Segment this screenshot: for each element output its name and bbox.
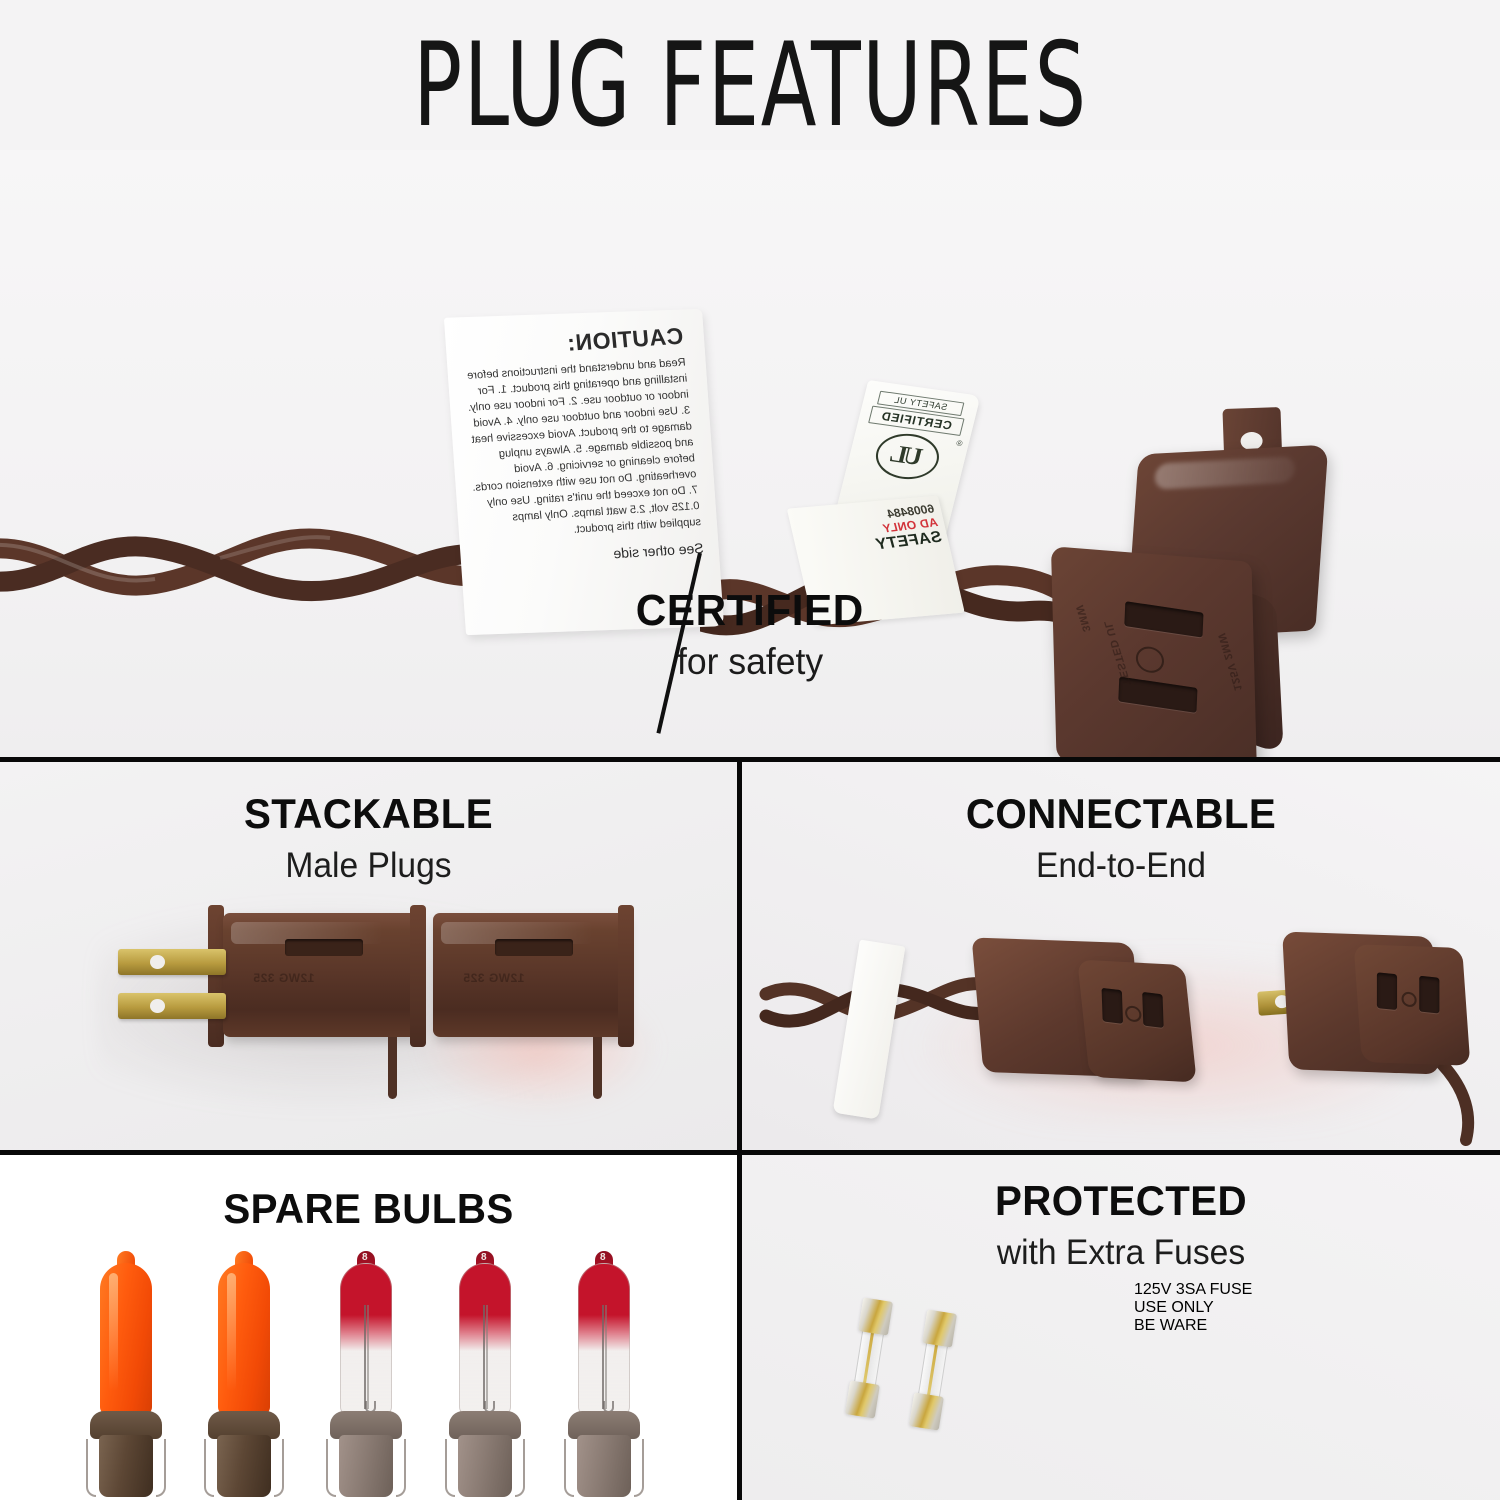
bulb-lead-left [564, 1439, 574, 1497]
bulb-base-body [217, 1435, 271, 1497]
bulb-red-3 [556, 1263, 652, 1498]
plug-prongs [118, 949, 228, 1033]
socket-slot-left [1102, 988, 1123, 1024]
socket-slot-right [1142, 992, 1163, 1028]
connectable-plugs-photo: CAUTION: Read and understand the instruc… [766, 912, 1486, 1142]
bulb-lead-right [396, 1439, 406, 1497]
caution-body-text: Read and understand the instructions bef… [459, 356, 701, 545]
page-title: PLUG FEATURES [413, 28, 1088, 144]
panel-protected-title: PROTECTED [757, 1177, 1485, 1225]
socket-center-boss [1125, 1005, 1142, 1023]
plug-center-boss [1401, 991, 1416, 1008]
ul-tag-strip: 6008484 AD ONLY SAFETY [787, 496, 965, 626]
bulb-red-2 [437, 1263, 533, 1498]
caution-label-tag: CAUTION: Read and understand the instruc… [444, 309, 724, 635]
plug-emboss-1: 12WG 325 [253, 971, 314, 985]
socket-emboss-left: 3MW [1073, 604, 1093, 633]
prong-bottom [118, 993, 226, 1019]
ul-certification-tag: SAFETY UL CERTIFIED UL ® 6008484 AD ONLY… [795, 368, 985, 625]
bulb-red-1 [318, 1263, 414, 1498]
fuse-holder-plug: 125V 3SA FUSE USE ONLY BE WARE [1134, 1281, 1434, 1496]
panel-stackable-title: STACKABLE [15, 790, 723, 838]
holder-body-shell [1190, 1309, 1380, 1459]
bulb-filament [364, 1305, 369, 1409]
socket-front-face: 3MW TESTED UL 125V 2MW [1051, 546, 1257, 758]
panel-spare-bulbs-title: SPARE BULBS [15, 1185, 723, 1233]
stackable-plugs-photo: 12WG 325 12WG 325 [88, 887, 648, 1137]
plug-slot-2 [495, 939, 573, 956]
panel-stackable: STACKABLE Male Plugs 12WG 325 12WG 325 [0, 762, 737, 1150]
fuse-cap-top [858, 1297, 893, 1335]
protected-fuses-photo: 125V 3SA FUSE USE ONLY BE WARE [742, 1275, 1500, 1500]
bulb-base-body [577, 1435, 631, 1497]
bulb-lead-right [515, 1439, 525, 1497]
socket-emboss-mid: TESTED UL [1101, 620, 1132, 687]
spare-fuse-2 [909, 1309, 957, 1430]
bulb-filament [483, 1305, 488, 1409]
bulb-base-body [458, 1435, 512, 1497]
hero-panel: CAUTION: Read and understand the instruc… [0, 150, 1500, 758]
spare-fuse-1 [845, 1297, 893, 1418]
panel-spare-bulbs: SPARE BULBS [0, 1155, 737, 1500]
bulb-base-body [99, 1435, 153, 1497]
bulb-lead-left [445, 1439, 455, 1497]
female-socket-face [1077, 960, 1197, 1083]
male-plug-face [1354, 944, 1471, 1066]
spare-bulbs-photo [0, 1263, 737, 1500]
male-plug-body-1: 12WG 325 [223, 913, 418, 1037]
panel-stackable-subtitle: Male Plugs [15, 846, 723, 886]
plug-slot-1 [285, 939, 363, 956]
plug-slot-left [1377, 972, 1397, 1010]
plug-wire-2 [593, 1037, 602, 1099]
panel-connectable: CONNECTABLE End-to-End CAUTION: Read and… [742, 762, 1500, 1150]
plug-emboss-2: 12WG 325 [463, 971, 524, 985]
socket-center-boss [1135, 645, 1165, 675]
prong-top [118, 949, 226, 975]
holder-emboss-top: 125V 3SA FUSE [1134, 1281, 1434, 1299]
socket-slot-top [1124, 601, 1203, 637]
bulb-lead-right [274, 1439, 284, 1497]
twisted-cord-left [0, 528, 500, 618]
bulb-lead-right [156, 1439, 166, 1497]
bulb-base-body [339, 1435, 393, 1497]
plug-flange-3 [618, 905, 634, 1047]
infographic-page: PLUG FEATURES CAUTION: Read and understa… [0, 0, 1500, 1500]
fuse-cap-bottom [845, 1380, 880, 1418]
panel-connectable-subtitle: End-to-End [757, 846, 1485, 886]
bulb-lead-left [86, 1439, 96, 1497]
bulb-orange-2 [196, 1263, 292, 1498]
bulb-lead-left [204, 1439, 214, 1497]
bulb-orange-1 [78, 1263, 174, 1498]
hero-socket-connector: 3MW TESTED UL 125V 2MW [1032, 402, 1362, 758]
plug-slot-right [1419, 976, 1439, 1014]
bulb-lead-left [326, 1439, 336, 1497]
panel-connectable-title: CONNECTABLE [757, 790, 1485, 838]
caution-footer-text: See other side [477, 540, 704, 570]
male-plug-body-2: 12WG 325 [433, 913, 628, 1037]
page-title-area: PLUG FEATURES [0, 28, 1500, 144]
bulb-glass [100, 1263, 152, 1415]
plug-flange-2 [410, 905, 426, 1047]
panel-protected-subtitle: with Extra Fuses [757, 1233, 1485, 1273]
bulb-filament [602, 1305, 607, 1409]
ul-logo-icon: UL [871, 430, 944, 483]
plug-wire-1 [388, 1037, 397, 1099]
fuse-cap-top [922, 1309, 957, 1347]
bulb-lead-right [634, 1439, 644, 1497]
socket-emboss-right: 125V 2MW [1215, 632, 1244, 692]
fuse-cap-bottom [909, 1392, 944, 1430]
bulb-glass [218, 1263, 270, 1415]
panel-protected: PROTECTED with Extra Fuses [742, 1155, 1500, 1500]
